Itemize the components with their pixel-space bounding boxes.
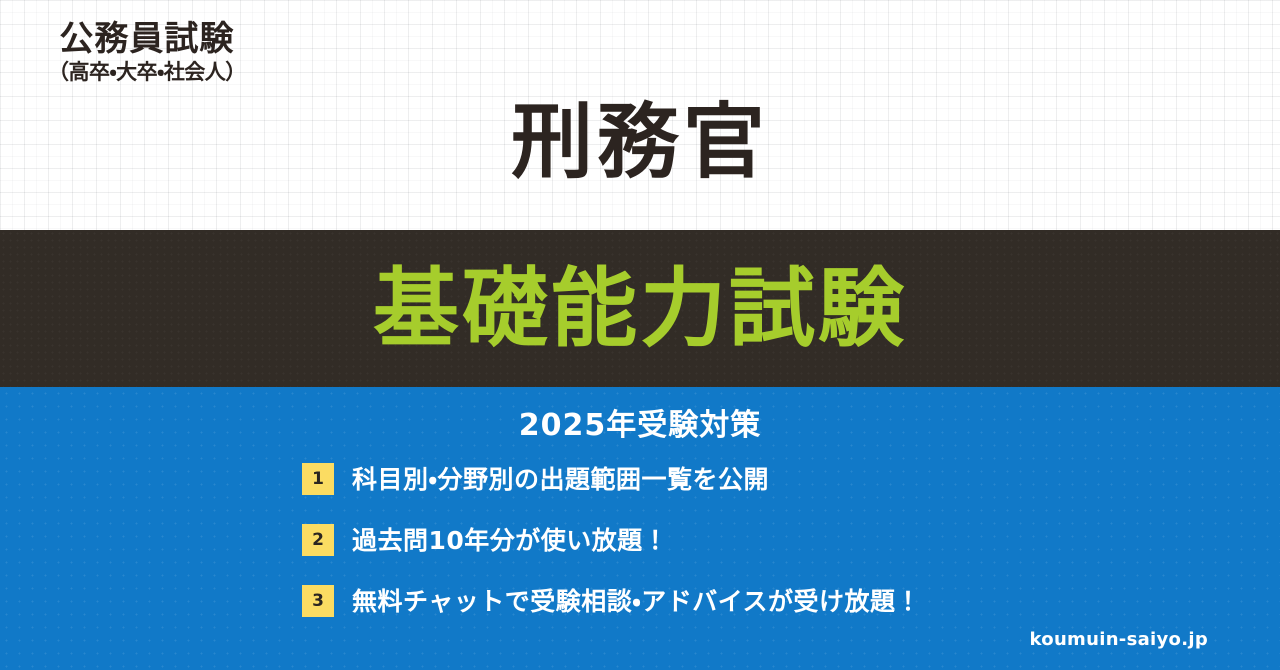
feature-list: 1 科目別・分野別の出題範囲一覧を公開 2 過去問10年分が使い放題！ 3 無料… <box>302 463 1202 617</box>
list-item: 2 過去問10年分が使い放題！ <box>302 524 1202 556</box>
feature-label: 過去問10年分が使い放題！ <box>352 528 668 553</box>
kicker-main-label: 公務員試験 <box>48 22 246 56</box>
feature-number-badge: 3 <box>302 585 334 617</box>
grid-paper-background: 公務員試験 （高卒・大卒・社会人） 刑務官 <box>0 0 1280 230</box>
section-title: 基礎能力試験 <box>373 266 907 352</box>
feature-number-badge: 1 <box>302 463 334 495</box>
page-title: 刑務官 <box>0 100 1280 186</box>
blue-feature-band: 2025年受験対策 1 科目別・分野別の出題範囲一覧を公開 2 過去問10年分が… <box>0 387 1280 670</box>
list-item: 1 科目別・分野別の出題範囲一覧を公開 <box>302 463 1202 495</box>
feature-number-badge: 2 <box>302 524 334 556</box>
list-item: 3 無料チャットで受験相談・アドバイスが受け放題！ <box>302 585 1202 617</box>
site-url-label: koumuin-saiyo.jp <box>1029 629 1208 650</box>
poster-canvas: 公務員試験 （高卒・大卒・社会人） 刑務官 基礎能力試験 2025年受験対策 1… <box>0 0 1280 670</box>
dark-accent-band: 基礎能力試験 <box>0 230 1280 387</box>
feature-label: 無料チャットで受験相談・アドバイスが受け放題！ <box>352 589 921 614</box>
kicker-block: 公務員試験 （高卒・大卒・社会人） <box>48 22 246 83</box>
kicker-sub-label: （高卒・大卒・社会人） <box>48 62 246 83</box>
year-heading: 2025年受験対策 <box>0 400 1280 444</box>
feature-label: 科目別・分野別の出題範囲一覧を公開 <box>352 467 769 492</box>
